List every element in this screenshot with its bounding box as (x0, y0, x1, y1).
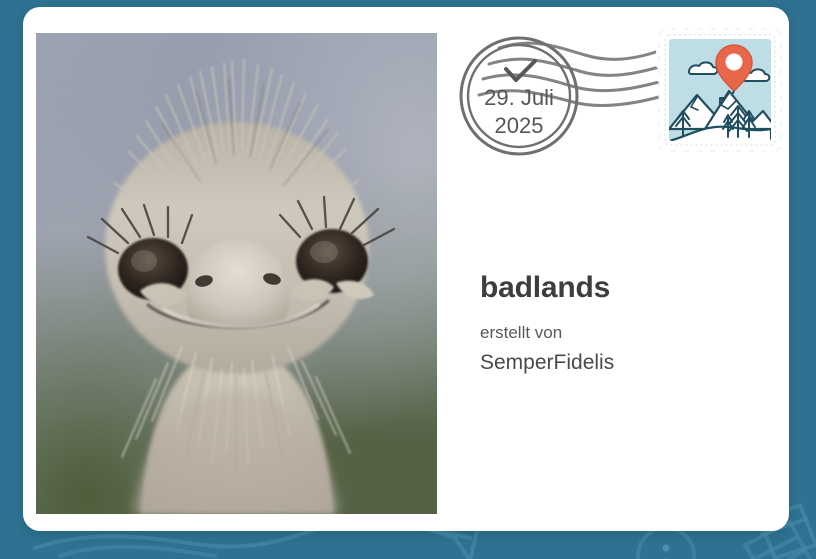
page-title: badlands (480, 271, 780, 304)
postmark-date-line-2: 2025 (495, 113, 544, 138)
postmark-date-line-1: 29. Juli (484, 85, 554, 110)
caption-block: badlands erstellt von SemperFidelis (480, 271, 780, 376)
franking-area: 29. Juli 2025 (453, 25, 789, 170)
postcard-right-column: 29. Juli 2025 (453, 7, 789, 531)
cover-photo[interactable] (36, 33, 437, 514)
postcard[interactable]: 29. Juli 2025 (23, 7, 789, 531)
postage-stamp[interactable] (656, 26, 784, 154)
ostrich-portrait-image (36, 33, 437, 514)
byline-label: erstellt von (480, 323, 780, 343)
byline-author[interactable]: SemperFidelis (480, 350, 780, 375)
